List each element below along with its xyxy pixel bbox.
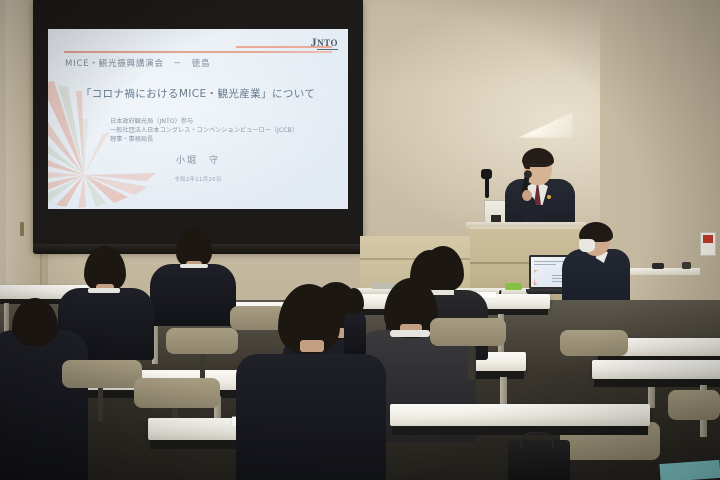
attendee-anchor xyxy=(384,250,388,254)
speaker-glasses-icon xyxy=(525,164,551,170)
slide-eyebrow: MICE・観光振興講演会 － 徳島 xyxy=(65,57,210,69)
floor-bag xyxy=(508,440,570,480)
door-knob-icon[interactable] xyxy=(20,222,24,236)
presentation-slide: JNTO MICE・観光振興講演会 － 徳島 「コロナ禍におけるMICE・観光産… xyxy=(48,29,348,209)
speaker-lapel-pin xyxy=(547,195,551,199)
attendee-mid-left xyxy=(150,228,236,324)
chair-row1-right[interactable] xyxy=(430,318,506,346)
teal-object xyxy=(659,460,720,480)
wall-shelf xyxy=(620,268,700,275)
chair-far-right[interactable] xyxy=(668,390,720,420)
face-mask-icon xyxy=(579,239,595,252)
jnto-logo-nto: NTO xyxy=(317,38,338,50)
affiliation-line-1: 日本政府観光局（JNTO）参与 xyxy=(110,117,298,126)
affiliation-line-3: 理事・事務局長 xyxy=(110,135,298,144)
desk-front-right xyxy=(390,404,650,426)
av-operator-figure xyxy=(560,222,632,310)
slide-affiliation: 日本政府観光局（JNTO）参与 一般社団法人日本コングレス・コンベンションビュー… xyxy=(110,117,298,144)
chair-row1-center[interactable] xyxy=(166,328,238,354)
exit-sign xyxy=(700,232,716,256)
speaker-hand xyxy=(522,190,532,201)
av-green-device xyxy=(505,283,522,290)
shelf-object xyxy=(652,263,664,269)
conference-room-scene: JNTO MICE・観光振興講演会 － 徳島 「コロナ禍におけるMICE・観光産… xyxy=(0,0,720,480)
shelf-object-secondary xyxy=(682,262,691,269)
chair-row1-left[interactable] xyxy=(62,360,142,388)
slide-date: 令和2年11月20日 xyxy=(48,175,348,183)
slide-accent-rule xyxy=(64,51,332,53)
projection-screen: JNTO MICE・観光振興講演会 － 徳島 「コロナ禍におけるMICE・観光産… xyxy=(33,0,363,252)
desk-row2-right xyxy=(592,360,720,379)
slide-presenter-name: 小堀 守 xyxy=(48,153,348,166)
jnto-logo: JNTO xyxy=(311,35,338,50)
gooseneck-microphone-icon xyxy=(485,176,489,198)
attendee-left-edge xyxy=(0,300,96,480)
slide-title: 「コロナ禍におけるMICE・観光産業」について xyxy=(48,86,348,101)
affiliation-line-2: 一般社団法人日本コングレス・コンベンションビューロー（JCCB） xyxy=(110,126,298,135)
attendee-foreground xyxy=(236,284,386,480)
chair-row2-left[interactable] xyxy=(134,378,220,408)
speaker-figure xyxy=(497,148,583,228)
chair-right[interactable] xyxy=(560,330,628,356)
